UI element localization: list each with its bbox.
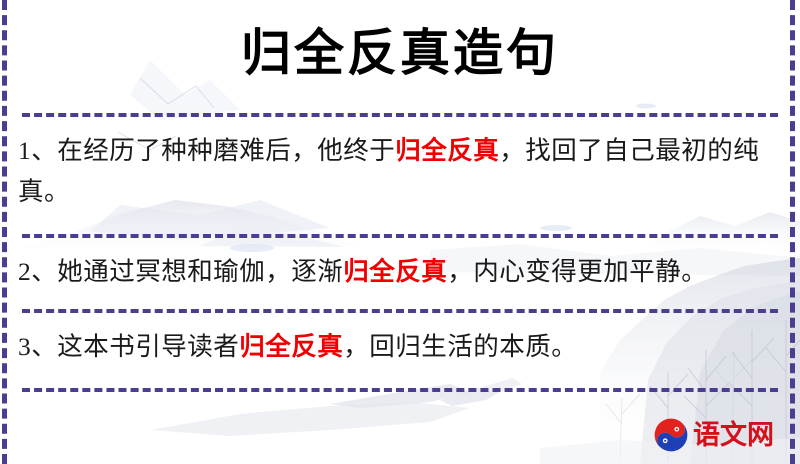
keyword-highlight: 归全反真 — [239, 332, 343, 361]
sentence-item-3: 3、这本书引导读者归全反真，回归生活的本质。 — [18, 326, 778, 367]
sentence-index: 2、 — [18, 257, 57, 286]
divider-1 — [22, 234, 778, 238]
sentence-text-after: ，内心变得更加平静。 — [447, 257, 707, 286]
divider-2 — [22, 309, 778, 313]
sentence-index: 3、 — [18, 332, 57, 361]
divider-top — [22, 113, 778, 117]
sentence-text-after: ，回归生活的本质。 — [343, 332, 577, 361]
sentence-item-2: 2、她通过冥想和瑜伽，逐渐归全反真，内心变得更加平静。 — [18, 251, 778, 292]
keyword-highlight: 归全反真 — [343, 257, 447, 286]
sentence-worksheet-page: 归全反真造句 1、在经历了种种磨难后，他终于归全反真，找回了自己最初的纯真。 2… — [0, 0, 800, 464]
site-logo[interactable]: 语文网 — [654, 418, 774, 452]
keyword-highlight: 归全反真 — [395, 136, 499, 165]
sentence-text-before: 这本书引导读者 — [57, 332, 239, 361]
logo-text: 语文网 — [693, 422, 774, 449]
sentence-text-before: 在经历了种种磨难后，他终于 — [57, 136, 395, 165]
sentence-item-1: 1、在经历了种种磨难后，他终于归全反真，找回了自己最初的纯真。 — [18, 130, 778, 212]
divider-bottom — [22, 388, 778, 392]
sentence-text-before: 她通过冥想和瑜伽，逐渐 — [57, 257, 343, 286]
page-title: 归全反真造句 — [0, 22, 800, 85]
sentence-index: 1、 — [18, 136, 57, 165]
yinyang-circle-icon — [654, 418, 688, 452]
